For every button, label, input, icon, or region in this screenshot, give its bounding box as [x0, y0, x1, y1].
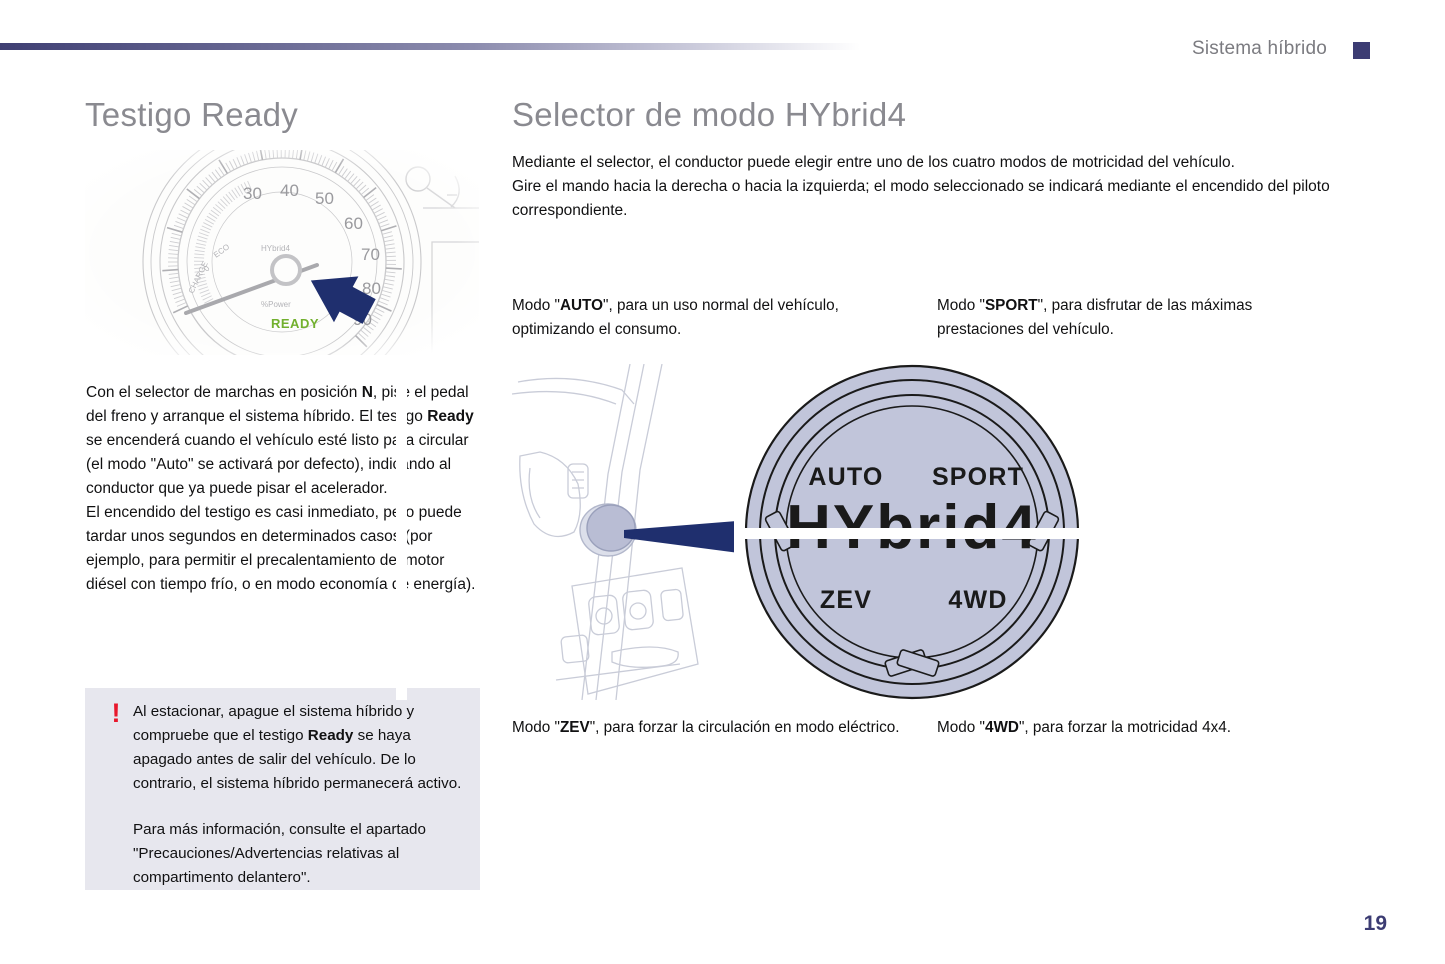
- dial-split-vertical: [396, 364, 407, 700]
- caption-mode-sport: Modo "SPORT", para disfrutar de las máxi…: [937, 294, 1337, 342]
- intro-paragraph-1: Mediante el selector, el conductor puede…: [512, 151, 1340, 175]
- header-title: Sistema híbrido: [1192, 38, 1327, 60]
- warning-paragraph-2: Para más información, consulte el aparta…: [133, 818, 464, 890]
- warning-paragraph-1: Al estacionar, apague el sistema híbrido…: [133, 700, 464, 796]
- left-column: Testigo Ready: [85, 96, 481, 146]
- dial-split-horizontal: [734, 528, 1090, 539]
- header-chapter-marker: [1353, 42, 1370, 59]
- instrument-cluster-ready-indicator-icon: 30 40 50 60 70 80 90 CHARGE 0 ECO HYbrid…: [85, 150, 479, 355]
- gauge-figure: 30 40 50 60 70 80 90 CHARGE 0 ECO HYbrid…: [85, 150, 479, 355]
- intro-text-block: Mediante el selector, el conductor puede…: [512, 151, 1340, 223]
- warning-panel: ! Al estacionar, apague el sistema híbri…: [85, 688, 480, 890]
- right-column: Selector de modo HYbrid4: [512, 96, 1342, 146]
- paragraph-ready-delay: El encendido del testigo es casi inmedia…: [86, 501, 486, 597]
- intro-paragraph-2: Gire el mando hacia la derecha o hacia l…: [512, 175, 1340, 223]
- paragraph-ready-start: Con el selector de marchas en posición N…: [86, 381, 486, 501]
- caption-mode-auto: Modo "AUTO", para un uso normal del vehí…: [512, 294, 902, 342]
- dial-label-4wd: 4WD: [948, 586, 1007, 614]
- page-title-testigo-ready: Testigo Ready: [85, 96, 481, 134]
- dial-label-zev: ZEV: [820, 586, 872, 614]
- header-gradient-rule: [0, 43, 860, 50]
- caption-mode-4wd: Modo "4WD", para forzar la motricidad 4x…: [937, 716, 1337, 740]
- dial-label-auto: AUTO: [808, 463, 883, 491]
- center-console-rotary-selector-icon: [512, 364, 762, 700]
- caption-mode-zev: Modo "ZEV", para forzar la circulación e…: [512, 716, 902, 740]
- left-body-text: Con el selector de marchas en posición N…: [86, 381, 486, 597]
- dial-label-sport: SPORT: [932, 463, 1024, 491]
- page-number: 19: [1364, 912, 1387, 936]
- page-title-selector-modo: Selector de modo HYbrid4: [512, 96, 1342, 134]
- warning-exclamation-icon: !: [99, 700, 133, 796]
- console-figure: [512, 364, 762, 700]
